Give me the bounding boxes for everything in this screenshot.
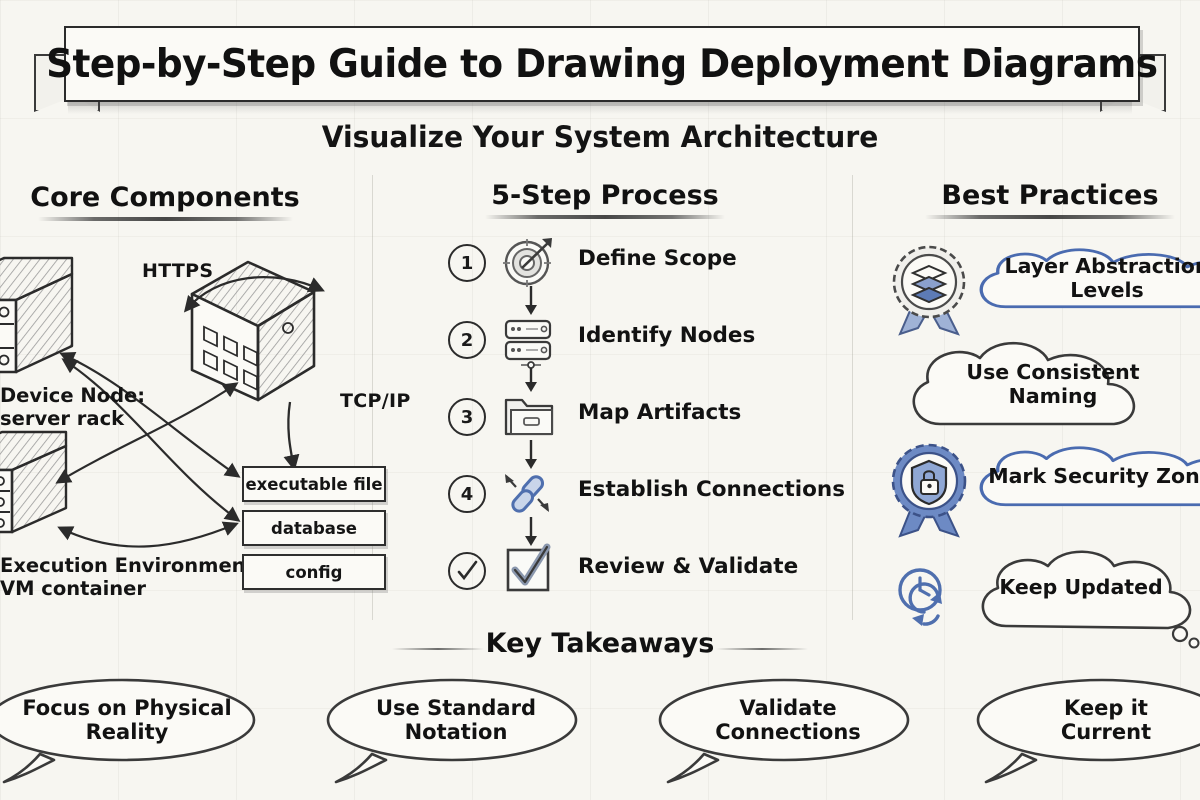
banner-body: Step-by-Step Guide to Drawing Deployment… — [64, 26, 1140, 102]
layers-rosette-icon — [888, 244, 964, 326]
best-practices-list: Layer Abstraction Levels Use Consistent … — [866, 232, 1200, 622]
process-step-1: 1 Define Scope — [440, 236, 860, 313]
device-node-label: Device Node: server rack — [0, 384, 145, 430]
step-number-badge-3: 3 — [448, 398, 486, 436]
step-arrow-4-to-5 — [520, 517, 542, 547]
process-step-1-label: Define Scope — [578, 246, 737, 271]
takeaway-bubble-2: Use Standard Notation — [320, 676, 582, 754]
section-underline-process — [485, 215, 725, 219]
step-number-badge-4: 4 — [448, 475, 486, 513]
process-steps-list: 1 Define Scope — [440, 236, 860, 621]
clock-refresh-icon — [894, 566, 964, 628]
core-components-diagram: HTTPS TCP/IP Device Node: server rack Ex… — [0, 232, 414, 622]
link-icon — [502, 467, 558, 519]
key-takeaways-rule-left — [392, 648, 484, 650]
process-step-2: 2 Identify Nodes — [440, 313, 860, 390]
shield-lock-rosette-icon — [888, 442, 964, 524]
process-step-2-label: Identify Nodes — [578, 323, 755, 348]
artifact-box-executable-file: executable file — [242, 466, 386, 502]
section-heading-core-components: Core Components — [0, 182, 330, 221]
takeaway-label-4: Keep it Current — [970, 676, 1200, 764]
best-practice-2-bubble: Use Consistent Naming — [894, 338, 1156, 432]
step-arrow-1-to-2 — [520, 286, 542, 316]
section-heading-process: 5-Step Process — [440, 180, 770, 219]
checkbox-icon — [502, 544, 558, 596]
page-subtitle: Visualize Your System Architecture — [18, 120, 1182, 154]
https-connection-label: HTTPS — [142, 260, 213, 282]
takeaway-bubble-4: Keep it Current — [970, 676, 1200, 754]
tcpip-connection-label: TCP/IP — [340, 390, 411, 412]
best-practice-1-bubble: Layer Abstraction Levels — [962, 246, 1200, 312]
key-takeaways-rule-right — [716, 648, 808, 650]
infographic-canvas: Step-by-Step Guide to Drawing Deployment… — [0, 0, 1200, 800]
target-icon — [502, 236, 558, 288]
takeaway-label-2: Use Standard Notation — [320, 676, 592, 764]
page-title: Step-by-Step Guide to Drawing Deployment… — [46, 42, 1157, 87]
execution-environment-label: Execution Environment: VM container — [0, 554, 263, 600]
process-step-4-label: Establish Connections — [578, 477, 845, 502]
best-practice-4-label: Keep Updated — [999, 576, 1162, 600]
takeaway-bubble-1: Focus on Physical Reality — [0, 676, 244, 754]
section-heading-key-takeaways: Key Takeaways — [0, 628, 1200, 659]
section-heading-core-components-label: Core Components — [30, 182, 300, 213]
takeaway-label-3: Validate Connections — [652, 676, 924, 764]
takeaway-bubble-3: Validate Connections — [652, 676, 914, 754]
takeaway-label-1: Focus on Physical Reality — [0, 676, 272, 764]
folder-icon — [502, 390, 558, 442]
process-step-4: 4 Establish Connections — [440, 467, 860, 544]
process-step-3-label: Map Artifacts — [578, 400, 741, 425]
step-number-badge-2: 2 — [448, 321, 486, 359]
connector-vm-to-database — [60, 524, 236, 547]
best-practice-1-label: Layer Abstraction Levels — [976, 255, 1200, 303]
step-number-badge-1: 1 — [448, 244, 486, 282]
key-takeaways-row: Focus on Physical Reality Use Standard N… — [0, 668, 1200, 800]
check-icon — [456, 560, 478, 582]
process-step-3: 3 Map Artifacts — [440, 390, 860, 467]
best-practice-4-bubble: Keep Updated — [966, 550, 1196, 634]
section-heading-process-label: 5-Step Process — [491, 180, 719, 211]
step-arrow-2-to-3 — [520, 363, 542, 393]
device-node-icon — [0, 258, 72, 372]
process-step-5-label: Review & Validate — [578, 554, 798, 579]
best-practice-3-label: Mark Security Zones — [988, 465, 1200, 489]
best-practice-3-bubble: Mark Security Zones — [962, 444, 1200, 510]
cube-node-icon — [192, 262, 314, 400]
artifact-box-config: config — [242, 554, 386, 590]
title-banner: Step-by-Step Guide to Drawing Deployment… — [34, 26, 1166, 106]
section-heading-best-practices: Best Practices — [880, 180, 1200, 219]
artifact-box-database: database — [242, 510, 386, 546]
execution-environment-icon — [0, 432, 66, 532]
section-heading-best-practices-label: Best Practices — [941, 180, 1158, 211]
tcpip-connector — [288, 402, 294, 468]
section-underline-best — [925, 215, 1175, 219]
step-arrow-3-to-4 — [520, 440, 542, 470]
process-step-5: Review & Validate — [440, 544, 860, 621]
section-underline-core — [38, 217, 293, 221]
best-practice-2-label: Use Consistent Naming — [966, 361, 1139, 409]
server-stack-icon — [502, 313, 558, 365]
step-check-badge-5 — [448, 552, 486, 590]
